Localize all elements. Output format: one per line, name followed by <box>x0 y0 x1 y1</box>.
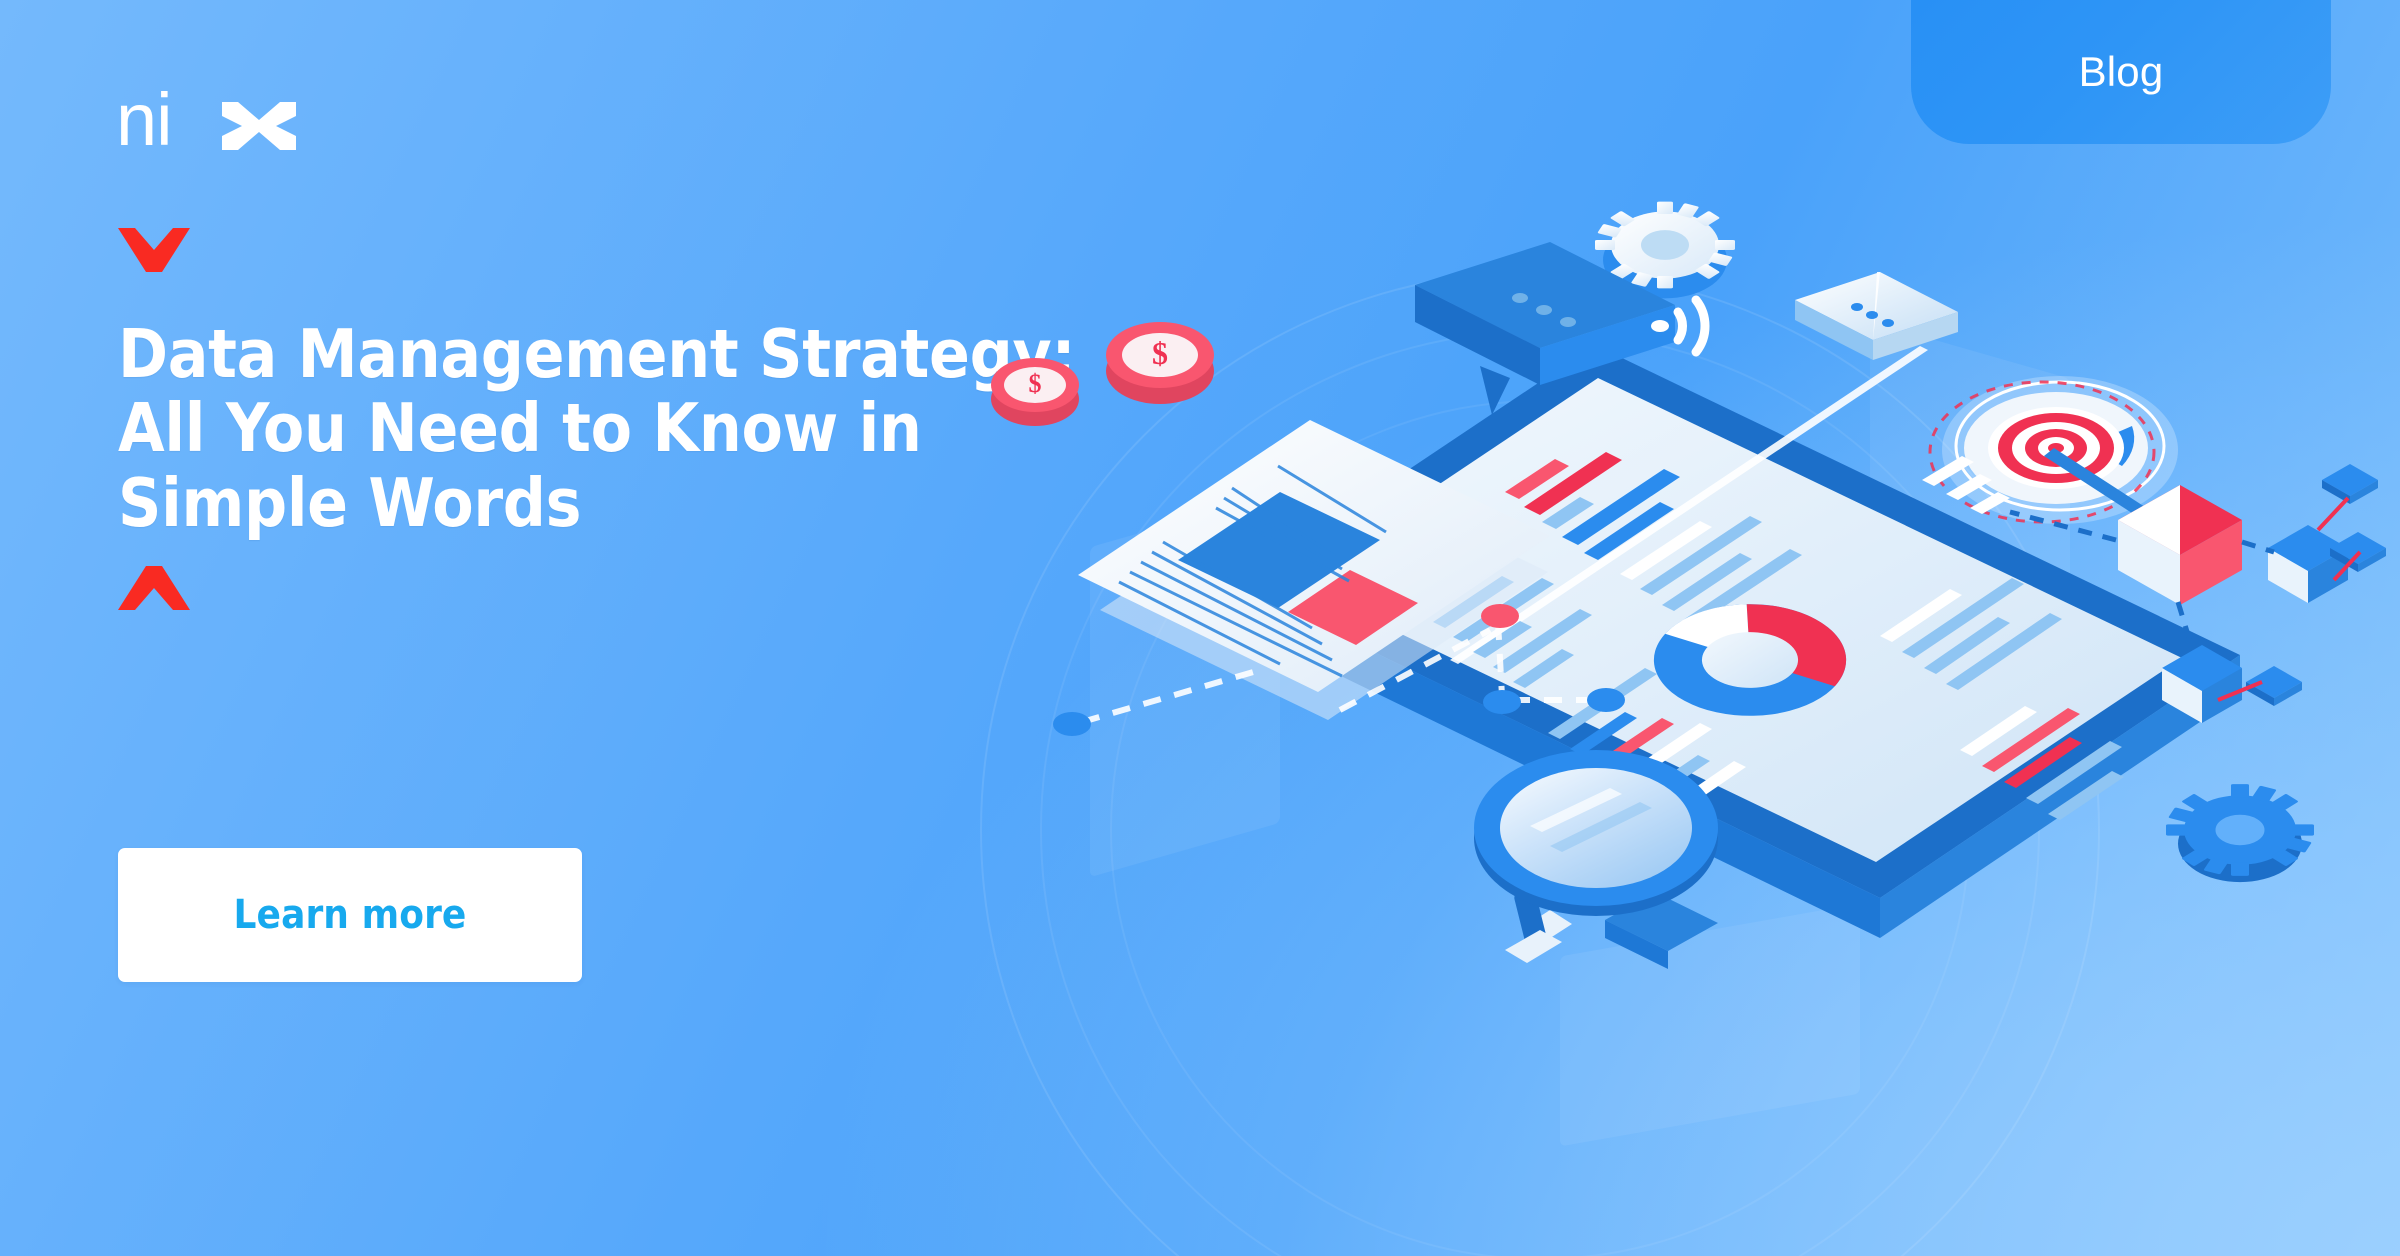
hero-illustration: $ $ <box>1050 230 2380 990</box>
learn-more-label: Learn more <box>234 892 467 938</box>
hero-banner: Blog ni Data Management Strategy: All Yo… <box>0 0 2400 1256</box>
logo[interactable]: ni <box>116 84 316 156</box>
coin-dollar-small-icon: $ <box>991 358 1079 426</box>
svg-text:$: $ <box>1029 369 1042 398</box>
coin-dollar-large-icon: $ <box>1106 322 1214 404</box>
svg-text:$: $ <box>1152 335 1168 371</box>
nav-tab-blog[interactable]: Blog <box>1911 0 2331 144</box>
chat-bubble-white-icon <box>1795 272 1958 360</box>
nav-tab-blog-label: Blog <box>2079 51 2164 93</box>
logo-text: ni <box>116 84 172 156</box>
learn-more-button[interactable]: Learn more <box>118 848 582 982</box>
gear-blue-icon <box>2166 784 2314 882</box>
x-mark-icon <box>220 100 298 157</box>
